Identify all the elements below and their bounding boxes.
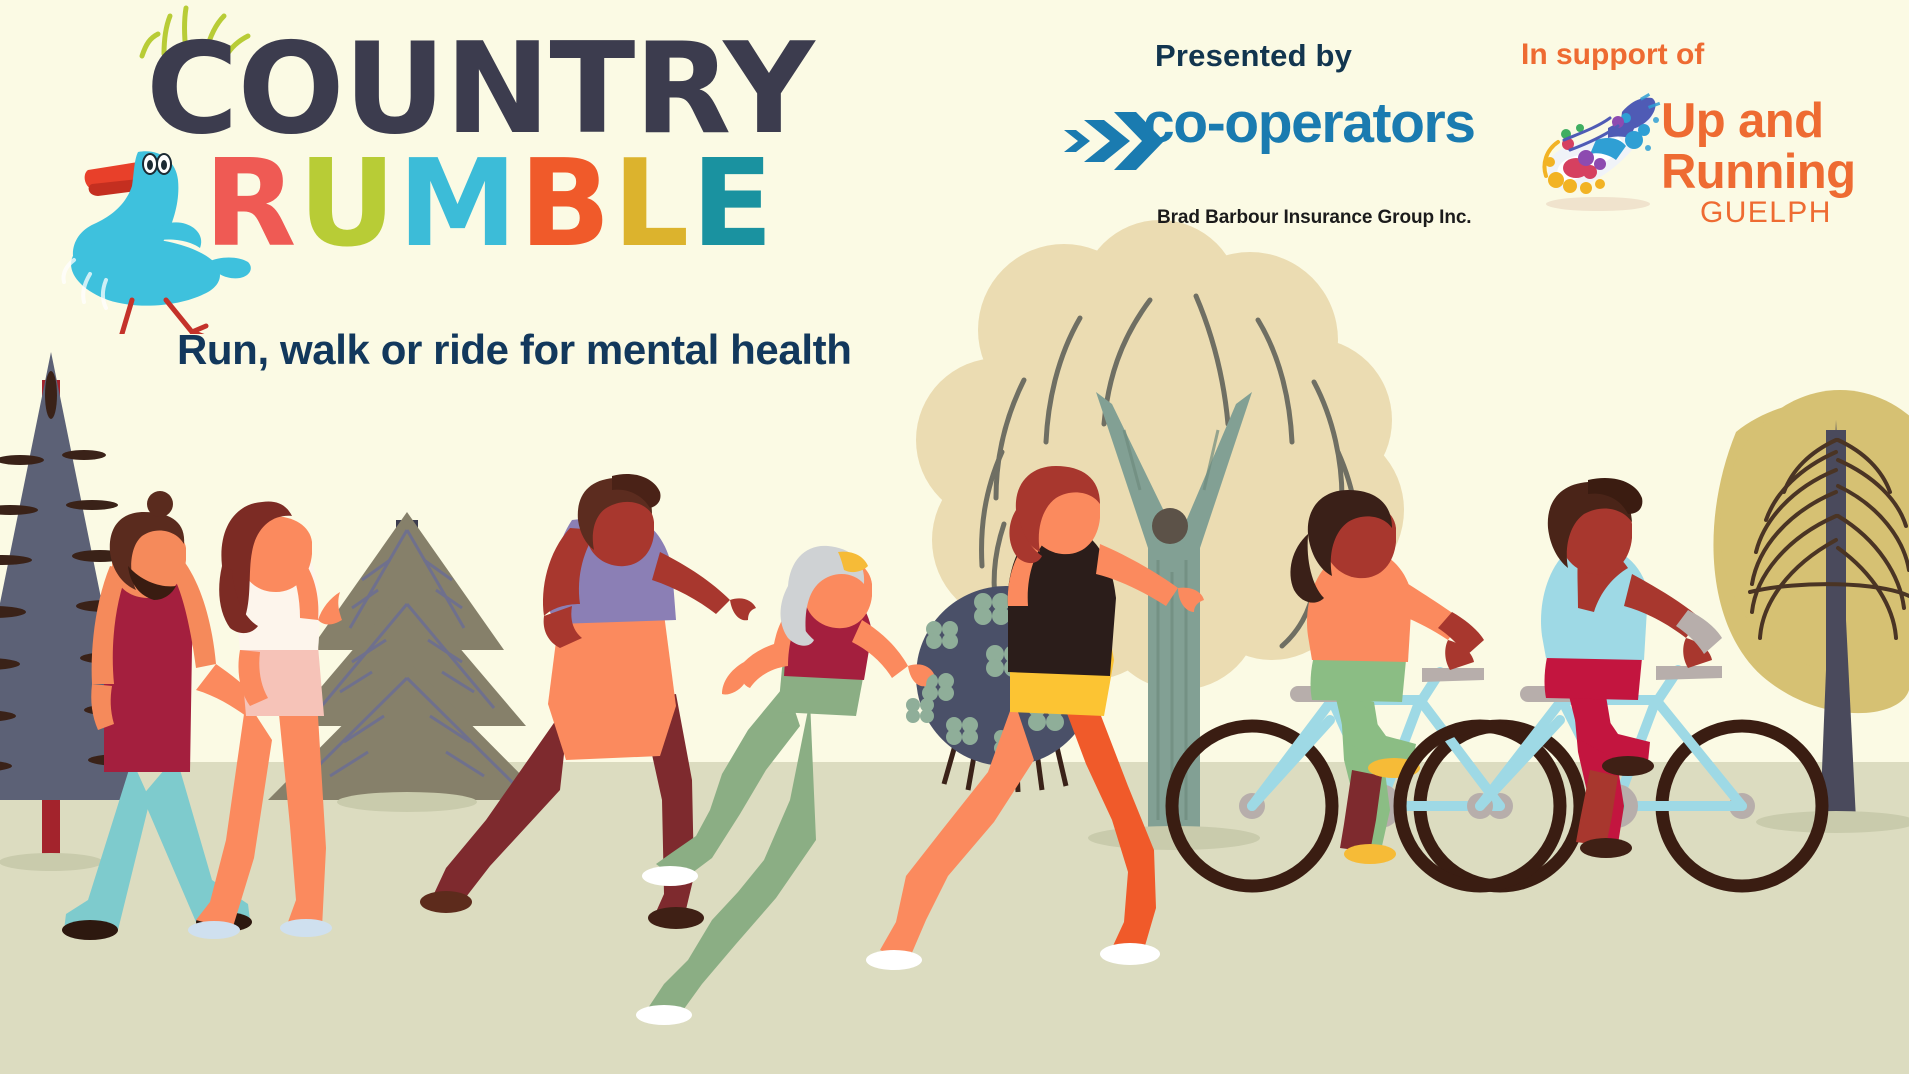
event-logo: COUNTRY RUMBLE bbox=[0, 0, 820, 330]
up-and-running-city: GUELPH bbox=[1700, 196, 1832, 230]
logo-letter-b: B bbox=[519, 145, 612, 265]
logo-letter-m: M bbox=[398, 145, 519, 265]
co-operators-wordmark: co-operators bbox=[1143, 90, 1475, 156]
tree-knot-hole bbox=[1152, 508, 1188, 544]
up-and-running-line2: Running bbox=[1661, 144, 1855, 200]
event-banner: COUNTRY RUMBLE bbox=[0, 0, 1909, 1074]
logo-title-rumble: RUMBLE bbox=[204, 145, 775, 265]
in-support-of-label: In support of bbox=[1521, 38, 1704, 72]
logo-letter-u: U bbox=[298, 145, 397, 265]
goose-icon bbox=[54, 104, 269, 334]
running-shoe-icon bbox=[1530, 92, 1665, 217]
logo-letter-e: E bbox=[691, 145, 775, 265]
logo-letter-l: L bbox=[613, 145, 691, 265]
brokerage-name: Brad Barbour Insurance Group Inc. bbox=[1157, 207, 1471, 229]
presented-by-label: Presented by bbox=[1155, 38, 1352, 74]
tagline: Run, walk or ride for mental health bbox=[177, 326, 851, 374]
up-and-running-line1: Up and bbox=[1661, 93, 1823, 149]
